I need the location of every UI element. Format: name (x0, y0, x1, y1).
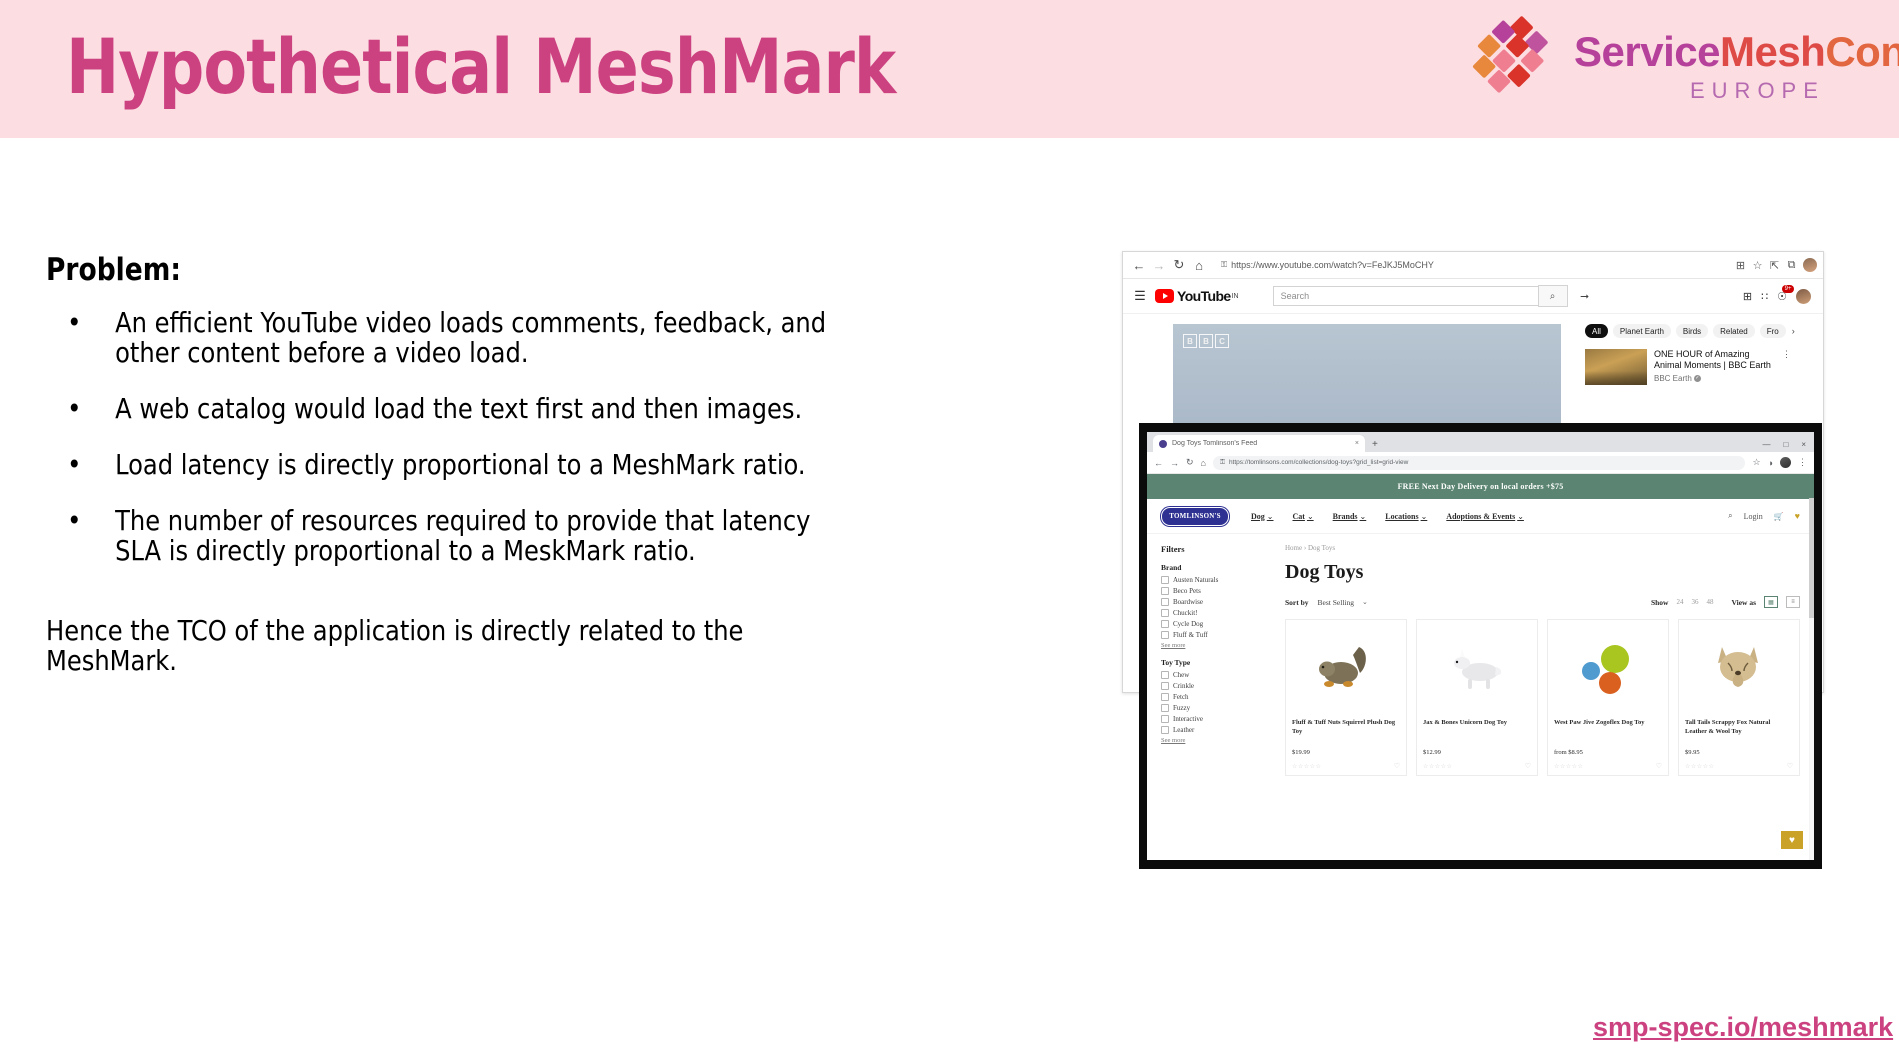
browser-profile-avatar[interactable] (1803, 258, 1817, 272)
logo-subtitle: EUROPE (1690, 78, 1825, 104)
bbc-letter: B (1183, 334, 1197, 348)
video-title[interactable]: ONE HOUR of Amazing Animal Moments | BBC… (1654, 349, 1778, 371)
show-option-36[interactable]: 36 (1691, 598, 1698, 606)
catalog-browser-viewport: Dog Toys Tomlinson's Feed × + — □ × ← → … (1147, 432, 1814, 860)
filter-option-label: Beco Pets (1173, 587, 1201, 595)
hamburger-menu-icon[interactable]: ☰ (1131, 288, 1149, 304)
filter-option[interactable]: Beco Pets (1161, 587, 1267, 595)
extensions-icon[interactable]: ⧉ (1783, 259, 1800, 272)
forward-icon[interactable]: → (1149, 258, 1169, 273)
favorite-heart-icon[interactable]: ♡ (1525, 762, 1531, 770)
nav-link-label: Cat (1292, 512, 1304, 521)
reload-icon[interactable]: ↻ (1186, 457, 1194, 468)
filter-option[interactable]: Fluff & Tuff (1161, 631, 1267, 639)
list-item-text: A web catalog would load the text first … (115, 392, 802, 425)
cart-icon[interactable]: 🛒 (1774, 512, 1784, 521)
youtube-logo[interactable]: YouTube IN (1155, 288, 1239, 304)
microphone-icon[interactable]: ⭢ (1574, 290, 1596, 303)
close-window-button[interactable]: × (1801, 440, 1806, 449)
login-link[interactable]: Login (1744, 512, 1763, 521)
list-item: • Load latency is directly proportional … (46, 450, 843, 480)
lock-icon: ⚿ (1220, 459, 1225, 467)
product-price: $12.99 (1423, 749, 1531, 756)
filter-option[interactable]: Fetch (1161, 693, 1267, 701)
list-item: • An efficient YouTube video loads comme… (46, 308, 843, 368)
see-more-toytype-link[interactable]: See more (1161, 737, 1267, 744)
logo-wordmark: ServiceMeshCon (1574, 28, 1899, 76)
product-name[interactable]: Fluff & Tuff Nuts Squirrel Plush Dog Toy (1292, 719, 1400, 745)
bullet-marker-icon: • (67, 506, 81, 536)
extension-icon[interactable]: ◑ (1768, 458, 1773, 468)
scrollbar-thumb[interactable] (1809, 498, 1814, 618)
nav-link-dog[interactable]: Dog⌄ (1251, 512, 1273, 521)
youtube-country-code: IN (1232, 293, 1239, 300)
chip-related[interactable]: Related (1713, 324, 1755, 338)
channel-name: BBC Earth (1654, 374, 1692, 383)
checkbox-icon[interactable] (1161, 704, 1169, 712)
lock-icon: ⚿ (1221, 260, 1227, 270)
favorite-heart-icon[interactable]: ♡ (1656, 762, 1662, 770)
chevron-down-icon[interactable]: ⌄ (1362, 598, 1368, 606)
product-name[interactable]: Jax & Bones Unicorn Dog Toy (1423, 719, 1531, 745)
product-image-fox-toy (1685, 626, 1793, 712)
meshmark-spec-link[interactable]: smp-spec.io/meshmark (1593, 1012, 1893, 1043)
nav-link-label: Brands (1333, 512, 1358, 521)
search-icon[interactable]: ⌕ (1538, 285, 1568, 307)
product-name[interactable]: Tall Tails Scrappy Fox Natural Leather &… (1685, 719, 1793, 745)
address-bar-url: https://tomlinsons.com/collections/dog-t… (1229, 459, 1408, 466)
product-grid: Fluff & Tuff Nuts Squirrel Plush Dog Toy… (1285, 619, 1800, 776)
checkbox-icon[interactable] (1161, 682, 1169, 690)
list-item-text: The number of resources required to prov… (115, 504, 810, 567)
bullet-marker-icon: • (67, 394, 81, 424)
minimize-button[interactable]: — (1762, 440, 1770, 449)
tomlinsons-logo[interactable]: TOMLINSON'S (1161, 507, 1229, 526)
chip-from[interactable]: Fro (1760, 324, 1786, 338)
product-name[interactable]: West Paw Jive Zogoflex Dog Toy (1554, 719, 1662, 745)
product-price: $19.99 (1292, 749, 1400, 756)
browser-tab[interactable]: Dog Toys Tomlinson's Feed × (1153, 435, 1365, 452)
page-title: Hypothetical MeshMark (66, 22, 895, 111)
share-icon[interactable]: ⇱ (1766, 259, 1783, 272)
filter-option[interactable]: Interactive (1161, 715, 1267, 723)
list-item: • The number of resources required to pr… (46, 506, 843, 566)
product-card-footer: ☆☆☆☆☆ ♡ (1685, 762, 1793, 770)
filter-group-brand-title: Brand (1161, 563, 1267, 572)
filter-option[interactable]: Austen Naturals (1161, 576, 1267, 584)
filter-option-label: Austen Naturals (1173, 576, 1218, 584)
filter-option-label: Leather (1173, 726, 1194, 734)
product-price: $9.95 (1685, 749, 1793, 756)
filter-chip-bar: All Planet Earth Birds Related Fro › (1585, 324, 1791, 338)
bbc-letter: C (1215, 334, 1229, 348)
filters-sidebar: Filters Brand Austen Naturals Beco Pets … (1147, 544, 1267, 776)
checkbox-icon[interactable] (1161, 576, 1169, 584)
create-video-icon[interactable]: ⊞ (1743, 290, 1752, 303)
nav-link-cat[interactable]: Cat⌄ (1292, 512, 1313, 521)
browser-chrome-toolbar: ← → ↻ ⌂ ⚿ https://www.youtube.com/watch?… (1123, 252, 1823, 279)
favorite-heart-icon[interactable]: ♡ (1787, 762, 1793, 770)
collections-icon[interactable]: ⊞ (1732, 259, 1749, 272)
address-bar[interactable]: ⚿ https://tomlinsons.com/collections/dog… (1213, 456, 1746, 470)
product-card[interactable]: West Paw Jive Zogoflex Dog Toy from $8.9… (1547, 619, 1669, 776)
close-icon[interactable]: × (1355, 440, 1359, 447)
recommended-video-item[interactable]: ONE HOUR of Amazing Animal Moments | BBC… (1585, 349, 1791, 385)
back-icon[interactable]: ← (1129, 258, 1149, 273)
grid-view-icon[interactable]: ▦ (1764, 596, 1778, 608)
filter-option-label: Cycle Dog (1173, 620, 1203, 628)
promo-banner: FREE Next Day Delivery on local orders +… (1147, 474, 1814, 499)
rating-stars[interactable]: ☆☆☆☆☆ (1554, 763, 1583, 770)
closing-paragraph: Hence the TCO of the application is dire… (46, 616, 804, 676)
logo-word-service: Service (1574, 28, 1720, 75)
notification-badge: 9+ (1782, 285, 1794, 293)
favicon-icon (1159, 440, 1167, 448)
search-input[interactable]: Search (1273, 286, 1538, 306)
browser-address-toolbar: ← → ↻ ⌂ ⚿ https://tomlinsons.com/collect… (1147, 452, 1814, 474)
video-thumbnail[interactable] (1585, 349, 1647, 385)
product-card[interactable]: Jax & Bones Unicorn Dog Toy $12.99 ☆☆☆☆☆… (1416, 619, 1538, 776)
maximize-button[interactable]: □ (1783, 440, 1788, 449)
checkbox-icon[interactable] (1161, 587, 1169, 595)
filter-option-label: Chew (1173, 671, 1189, 679)
filter-option-label: Chuckit! (1173, 609, 1198, 617)
checkbox-icon[interactable] (1161, 631, 1169, 639)
back-icon[interactable]: ← (1154, 458, 1163, 468)
checkbox-icon[interactable] (1161, 609, 1169, 617)
product-card-footer: ☆☆☆☆☆ ♡ (1292, 762, 1400, 770)
product-image-ball-toys (1554, 626, 1662, 712)
new-tab-button[interactable]: + (1372, 439, 1378, 452)
chevron-down-icon: ⌄ (1360, 512, 1367, 521)
problem-bullet-list: • An efficient YouTube video loads comme… (46, 308, 876, 566)
address-bar-url: https://www.youtube.com/watch?v=FeJKJ5Mo… (1231, 260, 1434, 270)
youtube-search: Search ⌕ ⭢ (1273, 285, 1596, 307)
video-meta: ONE HOUR of Amazing Animal Moments | BBC… (1654, 349, 1778, 385)
product-card[interactable]: Fluff & Tuff Nuts Squirrel Plush Dog Toy… (1285, 619, 1407, 776)
sort-by-label: Sort by (1285, 598, 1309, 607)
apps-grid-icon[interactable]: ∷ (1761, 290, 1768, 303)
bullet-marker-icon: • (67, 308, 81, 338)
bbc-letter: B (1199, 334, 1213, 348)
nav-link-label: Adoptions & Events (1446, 512, 1515, 521)
filter-option-label: Crinkle (1173, 682, 1194, 690)
logo-word-mesh: Mesh (1720, 28, 1825, 75)
kebab-menu-icon[interactable]: ⋮ (1778, 349, 1791, 385)
filter-option-label: Fluff & Tuff (1173, 631, 1208, 639)
bookmark-star-icon[interactable]: ☆ (1752, 457, 1760, 468)
servicemeshcon-logo: ServiceMeshCon EUROPE (1468, 10, 1880, 122)
chevron-down-icon: ⌄ (1267, 512, 1274, 521)
catalog-toolbar-right: Show 24 36 48 View as ▦ ≡ (1651, 596, 1800, 608)
rating-stars[interactable]: ☆☆☆☆☆ (1423, 763, 1452, 770)
bbc-watermark-icon: B B C (1183, 334, 1229, 348)
search-icon[interactable]: ⌕ (1728, 511, 1732, 521)
filter-option[interactable]: Leather (1161, 726, 1267, 734)
product-card-footer: ☆☆☆☆☆ ♡ (1423, 762, 1531, 770)
browser-tab-strip: Dog Toys Tomlinson's Feed × + — □ × (1147, 432, 1814, 452)
slide-header-band: Hypothetical MeshMark ServiceMeshCon EUR… (0, 0, 1899, 138)
checkbox-icon[interactable] (1161, 726, 1169, 734)
floating-wishlist-button[interactable]: ♥ (1781, 831, 1803, 849)
youtube-masthead: ☰ YouTube IN Search ⌕ ⭢ ⊞ ∷ ☉9+ (1123, 279, 1823, 314)
home-icon[interactable]: ⌂ (1189, 258, 1209, 273)
catalog-browser-screenshot: Dog Toys Tomlinson's Feed × + — □ × ← → … (1139, 423, 1822, 869)
view-as-label: View as (1731, 598, 1756, 607)
list-item-text: Load latency is directly proportional to… (115, 448, 805, 481)
browser-profile-avatar[interactable] (1780, 457, 1791, 468)
user-avatar[interactable] (1796, 289, 1811, 304)
nav-link-label: Dog (1251, 512, 1265, 521)
catalog-page-title: Dog Toys (1285, 561, 1800, 584)
servicemeshcon-diamond-mark (1468, 10, 1564, 106)
checkbox-icon[interactable] (1161, 598, 1169, 606)
home-icon[interactable]: ⌂ (1201, 458, 1206, 468)
sort-by-value[interactable]: Best Selling (1318, 598, 1354, 607)
nav-link-label: Locations (1385, 512, 1418, 521)
slide-body: Problem: • An efficient YouTube video lo… (46, 252, 876, 676)
checkbox-icon[interactable] (1161, 620, 1169, 628)
chevron-down-icon: ⌄ (1421, 512, 1428, 521)
page-scrollbar[interactable] (1809, 498, 1814, 860)
filter-option[interactable]: Cycle Dog (1161, 620, 1267, 628)
rating-stars[interactable]: ☆☆☆☆☆ (1292, 763, 1321, 770)
list-item-text: An efficient YouTube video loads comment… (115, 306, 826, 369)
notifications-bell-icon[interactable]: ☉9+ (1777, 290, 1787, 303)
product-image-squirrel-plush (1292, 626, 1400, 712)
favorite-icon[interactable]: ☆ (1749, 259, 1766, 272)
reload-icon[interactable]: ↻ (1169, 257, 1189, 273)
show-option-24[interactable]: 24 (1676, 598, 1683, 606)
product-card[interactable]: Tall Tails Scrappy Fox Natural Leather &… (1678, 619, 1800, 776)
browser-menu-icon[interactable]: ⋮ (1798, 457, 1807, 468)
browser-tab-label: Dog Toys Tomlinson's Feed (1172, 440, 1257, 447)
filter-option[interactable]: Fuzzy (1161, 704, 1267, 712)
chevron-down-icon: ⌄ (1307, 512, 1314, 521)
address-bar[interactable]: ⚿ https://www.youtube.com/watch?v=FeJKJ5… (1215, 257, 1726, 274)
filter-option[interactable]: Chew (1161, 671, 1267, 679)
nav-link-brands[interactable]: Brands⌄ (1333, 512, 1367, 521)
show-option-48[interactable]: 48 (1706, 598, 1713, 606)
product-card-footer: ☆☆☆☆☆ ♡ (1554, 762, 1662, 770)
bullet-marker-icon: • (67, 450, 81, 480)
list-view-icon[interactable]: ≡ (1786, 596, 1800, 608)
nav-link-adoptions-events[interactable]: Adoptions & Events⌄ (1446, 512, 1524, 521)
filter-option[interactable]: Boardwise (1161, 598, 1267, 606)
filter-option-label: Fetch (1173, 693, 1189, 701)
filter-option[interactable]: Crinkle (1161, 682, 1267, 690)
verified-badge-icon: ✓ (1694, 375, 1701, 382)
checkbox-icon[interactable] (1161, 715, 1169, 723)
filter-option[interactable]: Chuckit! (1161, 609, 1267, 617)
list-item: • A web catalog would load the text firs… (46, 394, 843, 424)
favorite-heart-icon[interactable]: ♡ (1394, 762, 1400, 770)
chevron-right-icon[interactable]: › (1792, 326, 1795, 336)
checkbox-icon[interactable] (1161, 693, 1169, 701)
forward-icon[interactable]: → (1170, 458, 1179, 468)
show-label: Show (1651, 598, 1669, 607)
product-image-unicorn-plush (1423, 626, 1531, 712)
window-controls: — □ × (1762, 440, 1814, 452)
chip-all[interactable]: All (1585, 324, 1608, 338)
logo-word-con: Con (1825, 28, 1899, 75)
youtube-wordmark: YouTube (1177, 288, 1231, 304)
chip-birds[interactable]: Birds (1676, 324, 1708, 338)
primary-nav-links: Dog⌄ Cat⌄ Brands⌄ Locations⌄ Adoptions &… (1251, 512, 1524, 521)
chevron-down-icon: ⌄ (1517, 512, 1524, 521)
rating-stars[interactable]: ☆☆☆☆☆ (1685, 763, 1714, 770)
filter-option-label: Boardwise (1173, 598, 1203, 606)
video-channel[interactable]: BBC Earth✓ (1654, 374, 1778, 383)
filter-group-toytype-title: Toy Type (1161, 658, 1267, 667)
nav-link-locations[interactable]: Locations⌄ (1385, 512, 1427, 521)
problem-heading: Problem: (46, 252, 835, 288)
site-navigation-bar: TOMLINSON'S Dog⌄ Cat⌄ Brands⌄ Locations⌄… (1147, 499, 1814, 534)
nav-utility-actions: ⌕ Login 🛒 ♥ (1728, 511, 1800, 521)
filter-option-label: Interactive (1173, 715, 1203, 723)
youtube-masthead-actions: ⊞ ∷ ☉9+ (1743, 289, 1815, 304)
filter-option-label: Fuzzy (1173, 704, 1190, 712)
catalog-main: Filters Brand Austen Naturals Beco Pets … (1147, 534, 1814, 776)
catalog-toolbar: Sort by Best Selling ⌄ Show 24 36 48 Vie… (1285, 596, 1800, 608)
breadcrumb[interactable]: Home › Dog Toys (1285, 544, 1800, 552)
wishlist-heart-icon[interactable]: ♥ (1795, 511, 1800, 521)
see-more-brands-link[interactable]: See more (1161, 642, 1267, 649)
catalog-content: Home › Dog Toys Dog Toys Sort by Best Se… (1267, 544, 1814, 776)
chip-planet-earth[interactable]: Planet Earth (1613, 324, 1671, 338)
product-price: from $8.95 (1554, 749, 1662, 756)
play-icon (1155, 289, 1174, 303)
filters-title: Filters (1161, 544, 1267, 554)
checkbox-icon[interactable] (1161, 671, 1169, 679)
